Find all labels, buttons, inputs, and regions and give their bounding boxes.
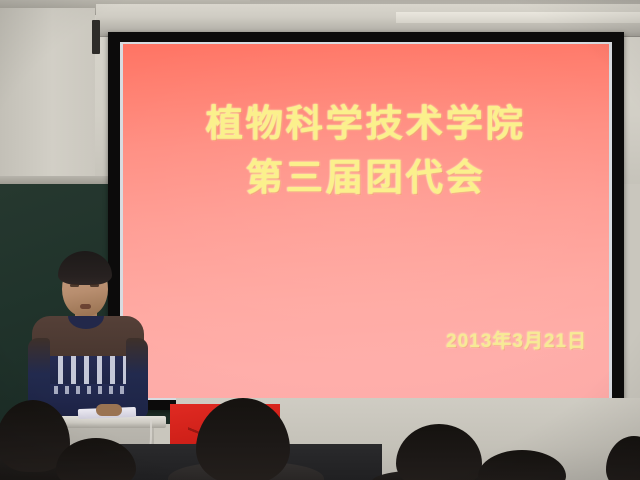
presenter-left-eye — [70, 284, 79, 287]
projected-slide: 植物科学技术学院 第三届团代会 2013年3月21日 — [123, 44, 609, 398]
presenter-hair — [58, 251, 112, 285]
presenter-right-eye — [90, 284, 99, 287]
slide-title-block: 植物科学技术学院 第三届团代会 — [123, 102, 609, 199]
presenter-mouth — [80, 304, 91, 309]
slide-title-line-1: 植物科学技术学院 — [123, 102, 609, 146]
slide-title-line-2: 第三届团代会 — [123, 156, 609, 200]
screen-inner-edge: 植物科学技术学院 第三届团代会 2013年3月21日 — [120, 42, 612, 400]
roller-bracket — [92, 20, 100, 54]
slide-date: 2013年3月21日 — [446, 326, 587, 353]
roller-highlight — [396, 12, 640, 23]
projection-screen-frame: 植物科学技术学院 第三届团代会 2013年3月21日 — [108, 32, 624, 410]
lecture-hall-photo: 植物科学技术学院 第三届团代会 2013年3月21日 — [0, 0, 640, 480]
presenter-hand — [96, 404, 122, 416]
wall-left-pillar — [0, 8, 95, 184]
presenter-right-arm — [126, 338, 148, 418]
presenter — [28, 246, 150, 426]
